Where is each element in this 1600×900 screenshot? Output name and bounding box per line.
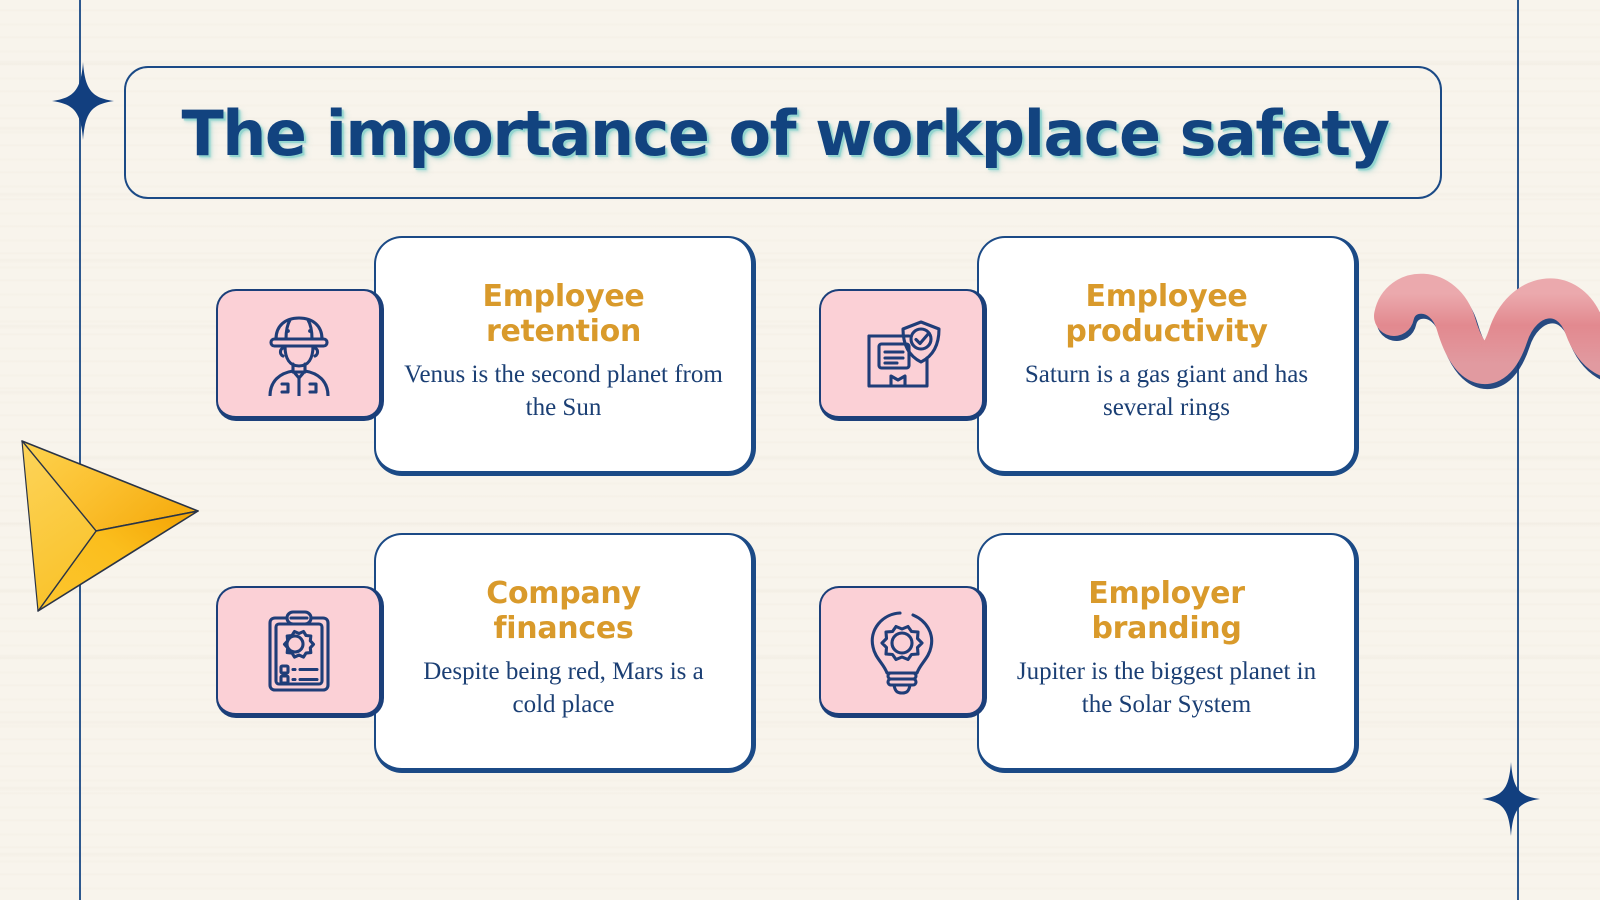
clipboard-gear-checklist-icon xyxy=(216,586,384,718)
four-point-star-icon-bottom-right xyxy=(1482,762,1540,836)
feature-item-employee-retention[interactable]: Employee retention Venus is the second p… xyxy=(216,236,756,476)
feature-card: Employer branding Jupiter is the biggest… xyxy=(977,533,1359,773)
feature-description: Saturn is a gas giant and has several ri… xyxy=(1005,358,1328,425)
feature-description: Despite being red, Mars is a cold place xyxy=(402,655,725,722)
package-shield-check-icon xyxy=(819,289,987,421)
slide-canvas: The importance of workplace safety xyxy=(0,0,1600,900)
feature-title: Employee productivity xyxy=(1052,280,1282,350)
feature-card: Employee retention Venus is the second p… xyxy=(374,236,756,476)
feature-item-company-finances[interactable]: Company finances Despite being red, Mars… xyxy=(216,533,756,773)
lightbulb-gear-icon xyxy=(819,586,987,718)
feature-item-employer-branding[interactable]: Employer branding Jupiter is the biggest… xyxy=(819,533,1359,773)
four-point-star-icon-top-left xyxy=(52,62,114,140)
feature-card: Company finances Despite being red, Mars… xyxy=(374,533,756,773)
feature-description: Jupiter is the biggest planet in the Sol… xyxy=(1005,655,1328,722)
feature-title: Company finances xyxy=(449,577,679,647)
feature-card: Employee productivity Saturn is a gas gi… xyxy=(977,236,1359,476)
feature-title: Employee retention xyxy=(449,280,679,350)
feature-item-employee-productivity[interactable]: Employee productivity Saturn is a gas gi… xyxy=(819,236,1359,476)
yellow-3d-arrow-icon xyxy=(8,415,208,627)
feature-title: Employer branding xyxy=(1052,577,1282,647)
feature-description: Venus is the second planet from the Sun xyxy=(402,358,725,425)
page-title: The importance of workplace safety xyxy=(150,72,1420,194)
construction-worker-icon xyxy=(216,289,384,421)
pink-wave-squiggle-icon xyxy=(1378,282,1600,418)
